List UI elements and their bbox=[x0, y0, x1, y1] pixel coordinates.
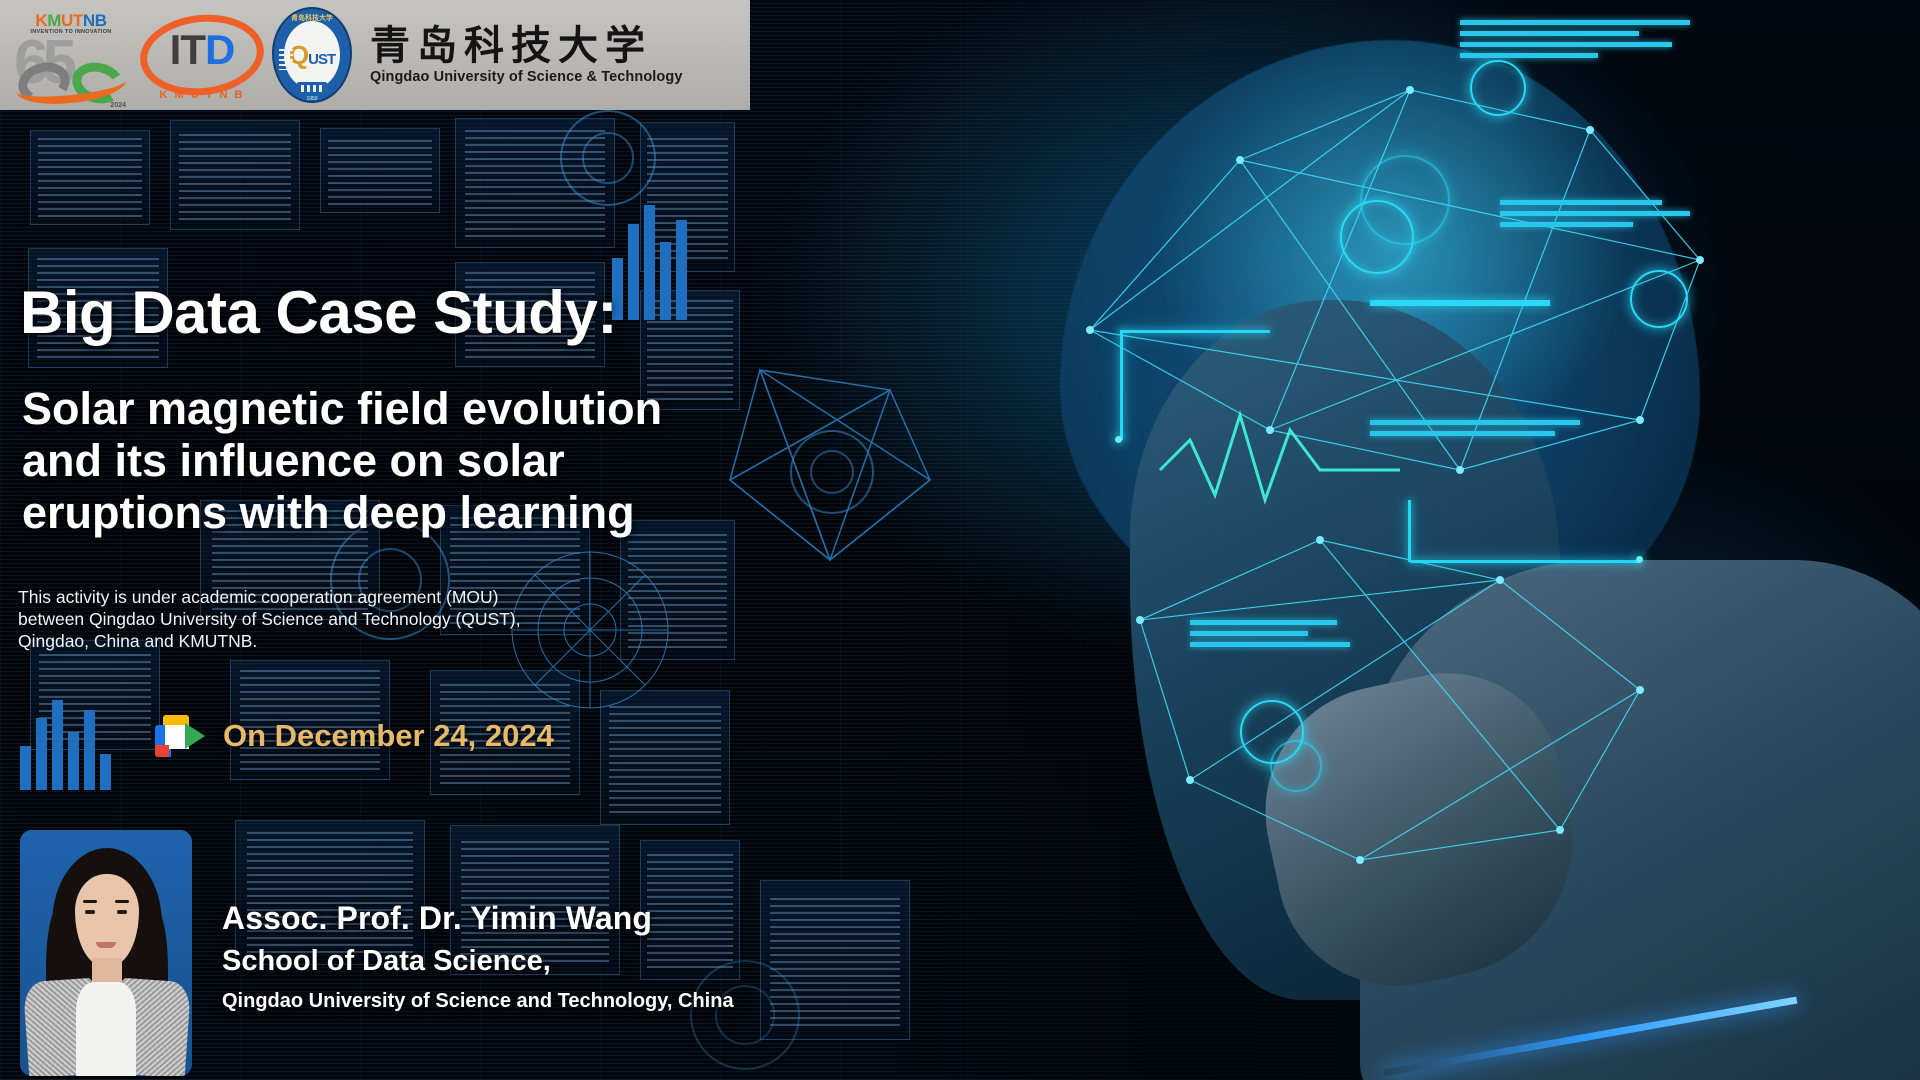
subtitle-line-3: eruptions with deep learning bbox=[22, 487, 872, 539]
itd-letter-d: D bbox=[205, 26, 234, 73]
qust-seal-logo: 青岛科技大学 QUST 1950 bbox=[272, 7, 352, 103]
google-meet-icon[interactable] bbox=[155, 715, 205, 757]
subtitle-line-1: Solar magnetic field evolution bbox=[22, 383, 872, 435]
anniversary-year: 2024 bbox=[110, 102, 126, 109]
kmutnb-letter-t: T bbox=[73, 11, 83, 30]
mou-line-1: This activity is under academic cooperat… bbox=[18, 587, 678, 609]
qust-monogram: QUST bbox=[289, 40, 335, 71]
avatar bbox=[20, 830, 192, 1076]
itd-kmutnb-logo: ITD K M U T N B bbox=[138, 3, 266, 107]
poster-content: Big Data Case Study: Solar magnetic fiel… bbox=[0, 0, 900, 1080]
kmutnb-letter-n: N bbox=[83, 11, 95, 30]
event-date-row: On December 24, 2024 bbox=[155, 715, 554, 757]
itd-letters-it: IT bbox=[170, 26, 205, 73]
page-subtitle: Solar magnetic field evolution and its i… bbox=[22, 383, 872, 540]
speaker-info: Assoc. Prof. Dr. Yimin Wang School of Da… bbox=[222, 900, 734, 1013]
kmutnb-65-anniversary-logo: KMUTNB INVENTION TO INNOVATION 65 2024 bbox=[10, 3, 132, 107]
ai-robot-illustration bbox=[940, 0, 1920, 1080]
mou-line-3: Qingdao, China and KMUTNB. bbox=[18, 631, 678, 653]
speaker-school: School of Data Science, bbox=[222, 945, 734, 978]
wave-icon bbox=[279, 49, 293, 69]
hud-data-panel bbox=[1460, 20, 1690, 64]
event-date: On December 24, 2024 bbox=[223, 718, 554, 754]
university-name-english: Qingdao University of Science & Technolo… bbox=[370, 69, 683, 85]
subtitle-line-2: and its influence on solar bbox=[22, 435, 872, 487]
speaker-affiliation: Qingdao University of Science and Techno… bbox=[222, 990, 734, 1013]
infinity-mark-icon bbox=[18, 59, 124, 105]
qingdao-university-wordmark: 青岛科技大学 Qingdao University of Science & T… bbox=[358, 25, 683, 85]
kmutnb-letter-b: B bbox=[95, 11, 107, 30]
mou-statement: This activity is under academic cooperat… bbox=[18, 587, 678, 653]
gate-icon bbox=[297, 82, 327, 95]
university-name-chinese: 青岛科技大学 bbox=[370, 25, 683, 67]
mou-line-2: between Qingdao University of Science an… bbox=[18, 609, 678, 631]
itd-subtitle: K M U T N B bbox=[160, 89, 245, 101]
seminar-poster: KMUTNB INVENTION TO INNOVATION 65 2024 I… bbox=[0, 0, 1920, 1080]
partner-logo-band: KMUTNB INVENTION TO INNOVATION 65 2024 I… bbox=[0, 0, 750, 110]
qust-founded-year: 1950 bbox=[306, 96, 317, 102]
speaker-name: Assoc. Prof. Dr. Yimin Wang bbox=[222, 900, 734, 937]
page-title: Big Data Case Study: bbox=[20, 283, 840, 343]
